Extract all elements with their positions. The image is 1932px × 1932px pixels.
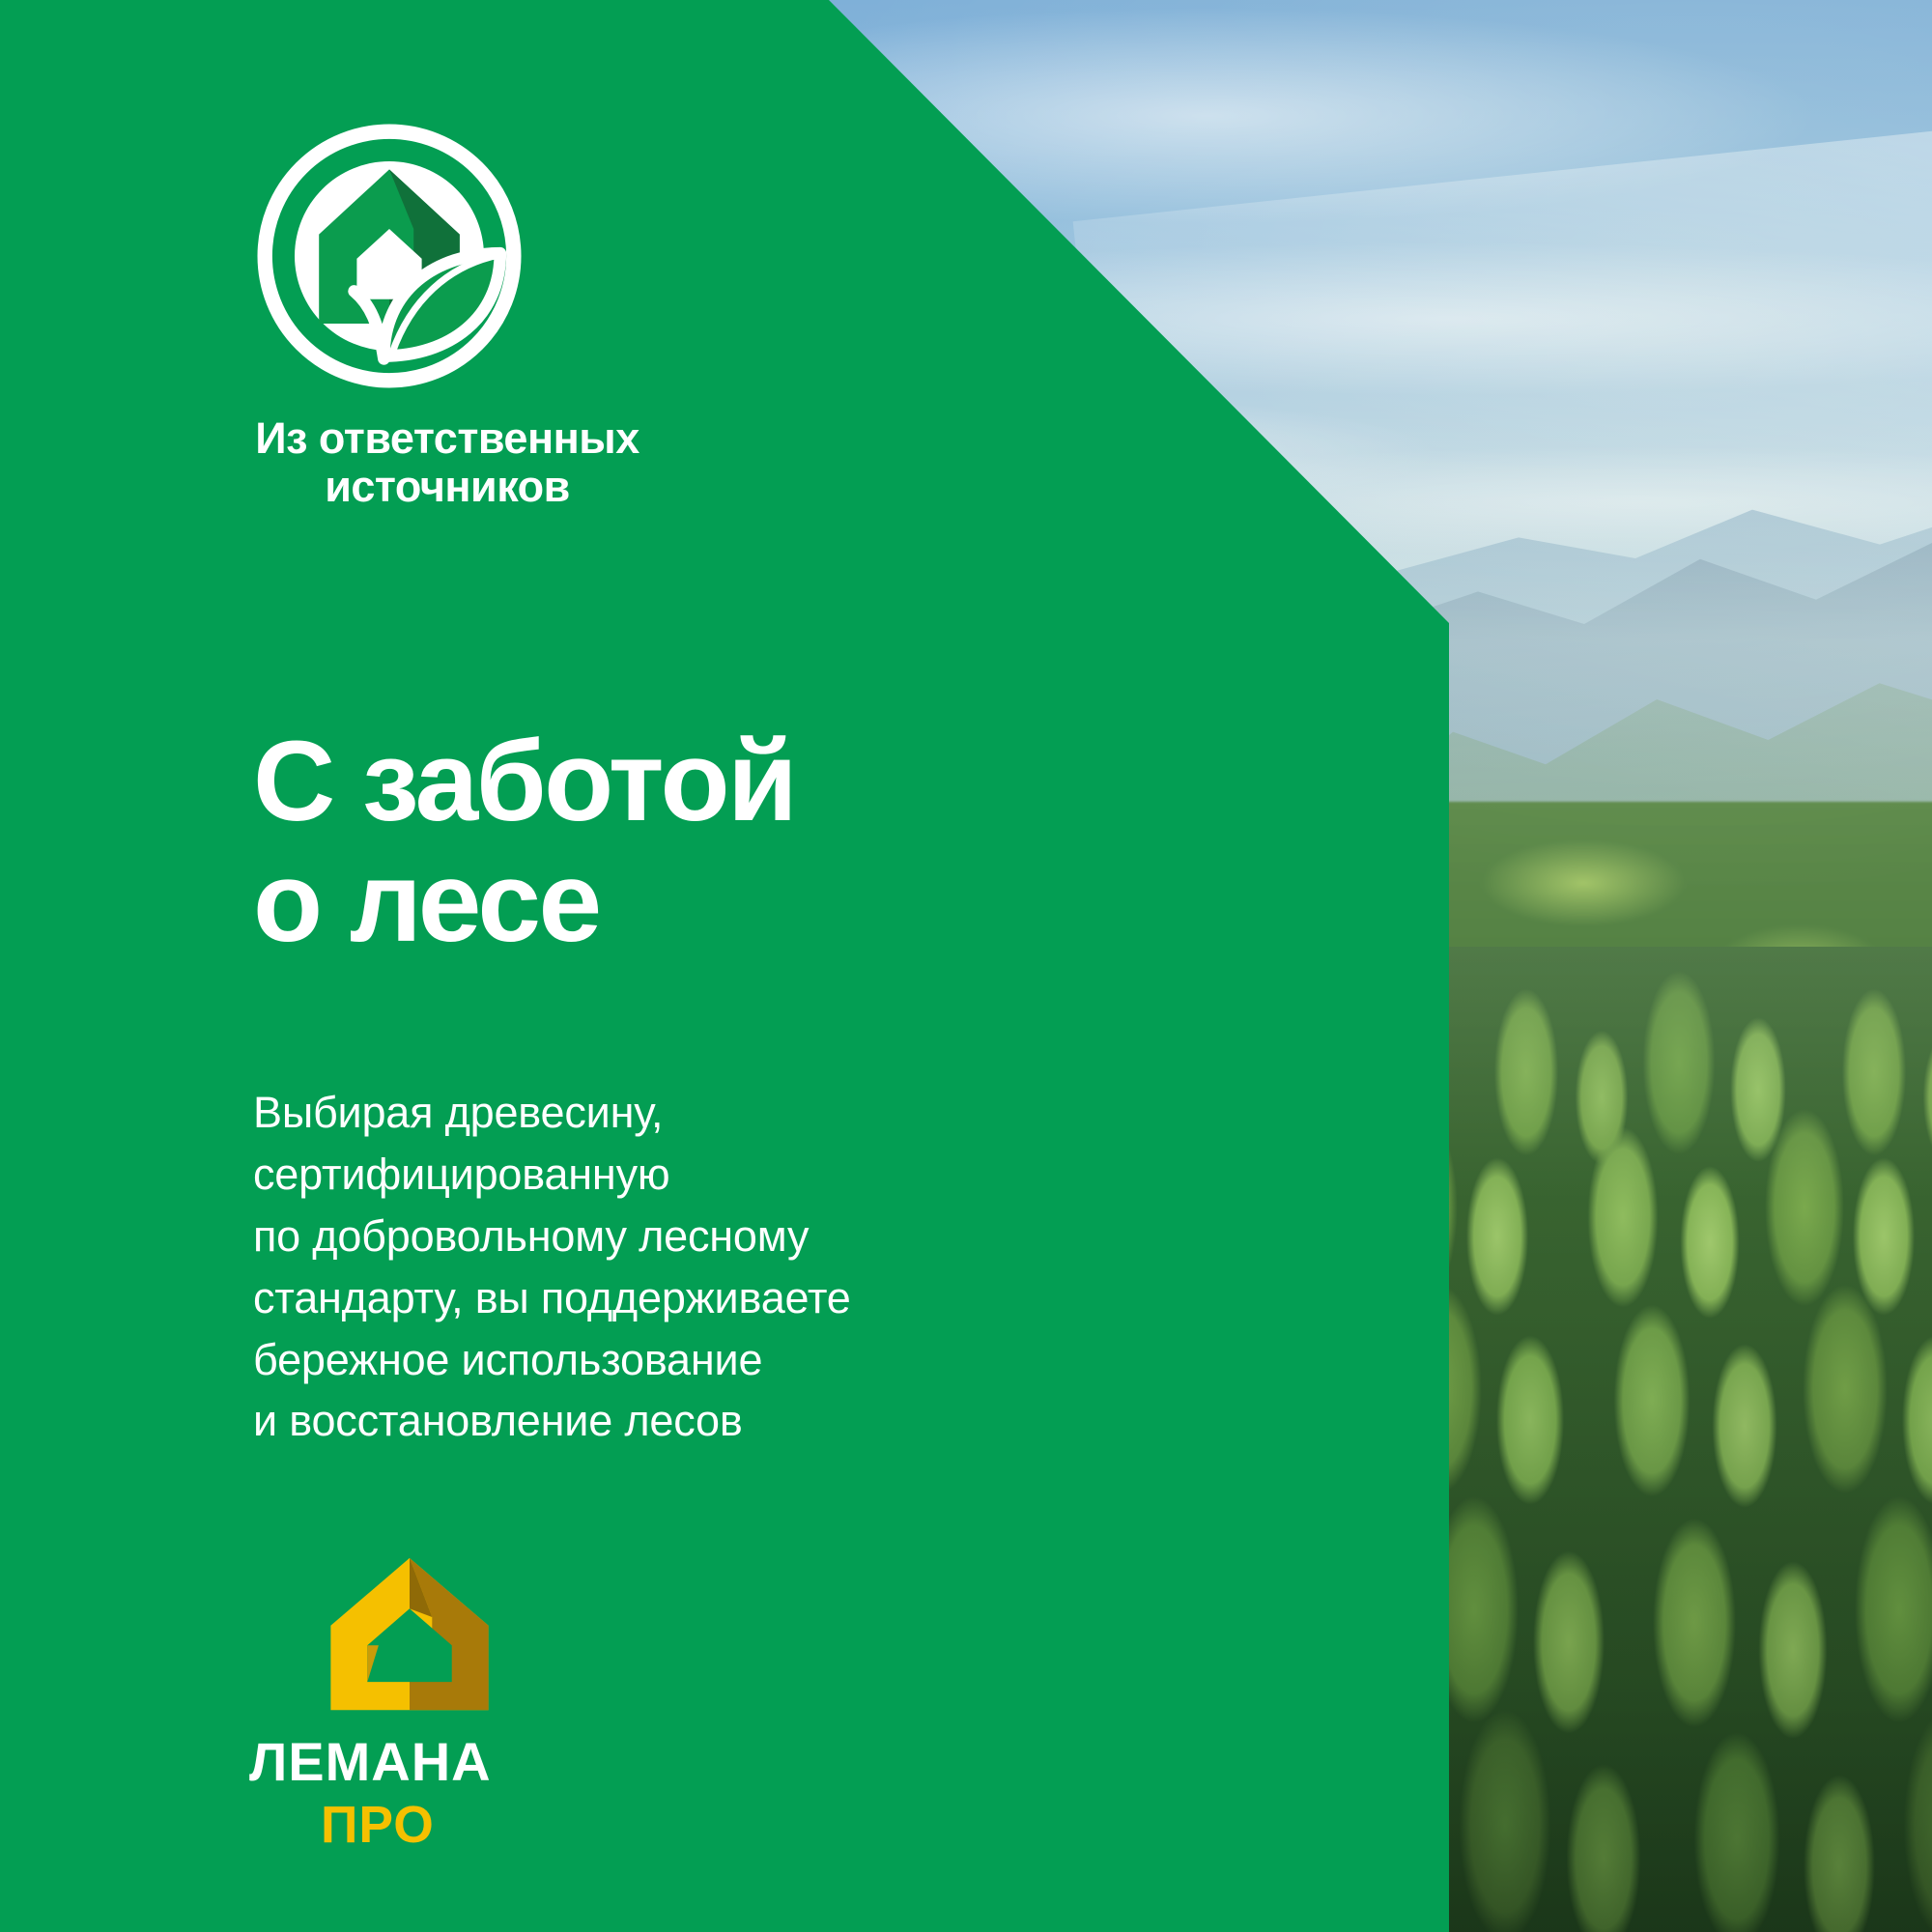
poster-content: Из ответственных источников С заботой о … [0, 0, 1449, 1932]
house-leaf-circle-icon [254, 121, 525, 391]
poster-canvas: Из ответственных источников С заботой о … [0, 0, 1932, 1932]
page-title: С заботой о лесе [253, 722, 1161, 963]
brand-suffix-pro: ПРО [321, 1798, 502, 1850]
brand-name-text: ЛЕМАНА [249, 1734, 492, 1788]
brand-suffix-text: ПРО [321, 1798, 435, 1850]
brand-lockup: ЛЕМАНА ПРО [249, 1552, 616, 1850]
certification-caption: Из ответственных источников [254, 414, 640, 512]
lemana-house-icon [325, 1552, 495, 1719]
body-copy: Выбирая древесину, сертифицированную по … [253, 1082, 1084, 1452]
certification-badge: Из ответственных источников [254, 121, 756, 512]
brand-name-lemana: ЛЕМАНА [249, 1734, 568, 1788]
